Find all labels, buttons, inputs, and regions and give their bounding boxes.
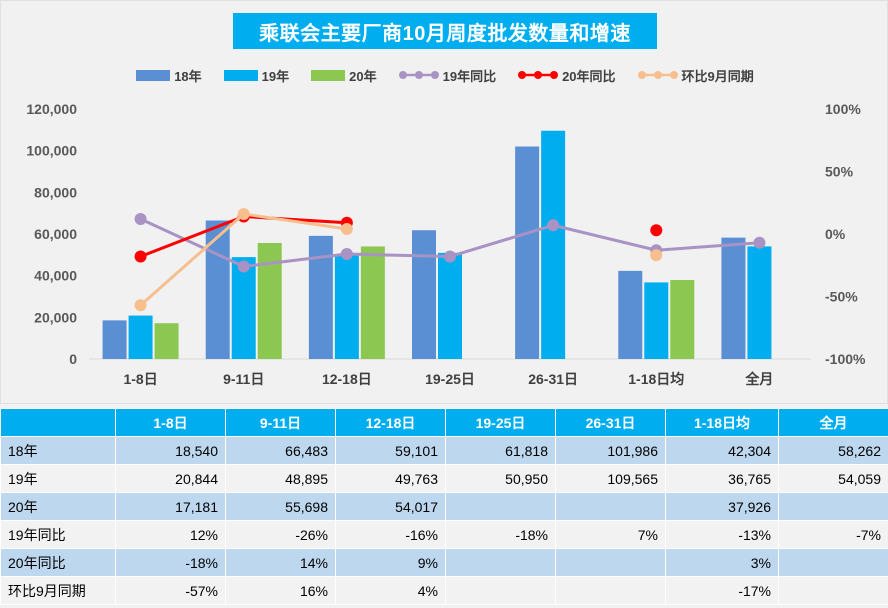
table-col-header-1-8日: 1-8日	[116, 409, 226, 437]
y-axis-right-tick: -50%	[825, 289, 858, 305]
table-cell-18年-19-25日: 61,818	[446, 437, 556, 465]
x-axis-category-全月: 全月	[744, 371, 773, 387]
table-cell-环比9月同期-12-18日: 4%	[336, 577, 446, 605]
legend-20nian[interactable]: 20年	[311, 66, 376, 85]
bar-18年-1-18日均	[618, 271, 642, 359]
data-table: 1-8日9-11日12-18日19-25日26-31日1-18日均全月 18年1…	[0, 408, 888, 605]
marker-19年同比-9-11日	[238, 261, 250, 273]
legend-19nian-tongbi[interactable]: 19年同比	[399, 66, 496, 85]
table-col-header-26-31日: 26-31日	[556, 409, 666, 437]
table-body: 18年18,54066,48359,10161,818101,98642,304…	[1, 437, 888, 605]
x-axis-category-1-18日均: 1-18日均	[628, 371, 684, 387]
table-cell-20年同比-1-8日: -18%	[116, 549, 226, 577]
legend-20nian-tongbi[interactable]: 20年同比	[518, 66, 615, 85]
legend-19nian-label: 19年	[262, 66, 289, 85]
bar-20年-1-8日	[155, 323, 179, 359]
table-cell-环比9月同期-1-18日均: -17%	[666, 577, 779, 605]
x-axis-category-26-31日: 26-31日	[528, 371, 578, 387]
bar-19年-19-25日	[438, 253, 462, 359]
table-cell-环比9月同期-19-25日	[446, 577, 556, 605]
table-cell-20年-19-25日	[446, 493, 556, 521]
y-axis-left-tick: 120,000	[26, 101, 77, 117]
legend-18nian-swatch	[136, 70, 170, 81]
table-cell-20年同比-9-11日: 14%	[226, 549, 336, 577]
table-cell-18年-全月: 58,262	[779, 437, 888, 465]
legend-18nian[interactable]: 18年	[136, 66, 201, 85]
bar-18年-19-25日	[412, 230, 436, 359]
y-axis-right-tick: 50%	[825, 164, 854, 180]
marker-19年同比-12-18日	[341, 248, 353, 260]
table-cell-19年-9-11日: 48,895	[226, 465, 336, 493]
table-cell-20年-9-11日: 55,698	[226, 493, 336, 521]
marker-20年同比-1-18日均	[650, 224, 662, 236]
legend-20nian-tongbi-line	[518, 69, 558, 81]
table-cell-环比9月同期-26-31日	[556, 577, 666, 605]
table-cell-环比9月同期-1-8日: -57%	[116, 577, 226, 605]
line-segment-19年同比	[553, 225, 656, 250]
table-row-label-20年: 20年	[1, 493, 116, 521]
table-cell-20年同比-19-25日	[446, 549, 556, 577]
y-axis-left-tick: 40,000	[34, 268, 77, 284]
bar-18年-12-18日	[309, 236, 333, 359]
legend-huanbi-9yue[interactable]: 环比9月同期	[638, 66, 754, 85]
table-cell-18年-26-31日: 101,986	[556, 437, 666, 465]
bar-20年-9-11日	[258, 243, 282, 359]
table-cell-18年-9-11日: 66,483	[226, 437, 336, 465]
chart-legend: 18年19年20年19年同比20年同比环比9月同期	[1, 63, 888, 87]
marker-19年同比-19-25日	[444, 251, 456, 263]
legend-20nian-swatch	[311, 70, 345, 81]
y-axis-left-tick: 100,000	[26, 143, 77, 159]
marker-19年同比-1-8日	[135, 213, 147, 225]
table-col-header-1-18日均: 1-18日均	[666, 409, 779, 437]
table-col-header-全月: 全月	[779, 409, 888, 437]
table-row: 18年18,54066,48359,10161,818101,98642,304…	[1, 437, 888, 465]
table-row-label-19年: 19年	[1, 465, 116, 493]
table-cell-18年-1-8日: 18,540	[116, 437, 226, 465]
table-cell-19年-1-8日: 20,844	[116, 465, 226, 493]
bar-19年-1-8日	[129, 316, 153, 359]
y-axis-right-tick: 0%	[825, 226, 846, 242]
marker-19年同比-全月	[753, 237, 765, 249]
legend-18nian-label: 18年	[174, 66, 201, 85]
table-cell-19年-26-31日: 109,565	[556, 465, 666, 493]
y-axis-right-tick: -100%	[825, 351, 866, 367]
table-cell-19年同比-1-18日均: -13%	[666, 521, 779, 549]
table-cell-环比9月同期-9-11日: 16%	[226, 577, 336, 605]
table-cell-20年-1-8日: 17,181	[116, 493, 226, 521]
table-corner-cell	[1, 409, 116, 437]
legend-20nian-tongbi-label: 20年同比	[562, 66, 615, 85]
table-cell-19年同比-9-11日: -26%	[226, 521, 336, 549]
table-cell-18年-12-18日: 59,101	[336, 437, 446, 465]
table-cell-19年-12-18日: 49,763	[336, 465, 446, 493]
table-cell-18年-1-18日均: 42,304	[666, 437, 779, 465]
y-axis-left-tick: 0	[69, 351, 77, 367]
marker-20年同比-1-8日	[135, 251, 147, 263]
marker-环比9月同期-1-8日	[135, 299, 147, 311]
table-header-row: 1-8日9-11日12-18日19-25日26-31日1-18日均全月	[1, 409, 888, 437]
table-cell-19年同比-全月: -7%	[779, 521, 888, 549]
chart-title-banner: 乘联会主要厂商10月周度批发数量和增速	[233, 13, 657, 49]
y-axis-left-tick: 20,000	[34, 309, 77, 325]
marker-环比9月同期-12-18日	[341, 223, 353, 235]
page-title: 乘联会主要厂商10月周度批发数量和增速	[259, 17, 631, 46]
x-axis-category-9-11日: 9-11日	[223, 371, 264, 387]
table-row: 环比9月同期-57%16%4%-17%	[1, 577, 888, 605]
legend-19nian[interactable]: 19年	[224, 66, 289, 85]
y-axis-left-tick: 60,000	[34, 226, 77, 242]
legend-20nian-label: 20年	[349, 66, 376, 85]
x-axis-category-1-8日: 1-8日	[123, 371, 157, 387]
table-col-header-12-18日: 12-18日	[336, 409, 446, 437]
table-row: 20年17,18155,69854,01737,926	[1, 493, 888, 521]
y-axis-right-tick: 100%	[825, 101, 861, 117]
table-cell-环比9月同期-全月	[779, 577, 888, 605]
table-cell-20年同比-全月	[779, 549, 888, 577]
bar-18年-9-11日	[206, 220, 230, 359]
table-cell-20年-全月	[779, 493, 888, 521]
bar-19年-全月	[747, 246, 771, 359]
table-row: 19年20,84448,89549,76350,950109,56536,765…	[1, 465, 888, 493]
table-row: 20年同比-18%14%9%3%	[1, 549, 888, 577]
x-axis-category-12-18日: 12-18日	[322, 371, 372, 387]
table-cell-19年-19-25日: 50,950	[446, 465, 556, 493]
table-row-label-19年同比: 19年同比	[1, 521, 116, 549]
legend-19nian-tongbi-line	[399, 69, 439, 81]
table-cell-19年-1-18日均: 36,765	[666, 465, 779, 493]
x-axis-category-19-25日: 19-25日	[425, 371, 475, 387]
chart-plot-area: 020,00040,00060,00080,000100,000120,000-…	[1, 89, 888, 389]
table-cell-19年同比-26-31日: 7%	[556, 521, 666, 549]
table-col-header-9-11日: 9-11日	[226, 409, 336, 437]
legend-19nian-tongbi-label: 19年同比	[443, 66, 496, 85]
table-cell-19年同比-12-18日: -16%	[336, 521, 446, 549]
table-row-label-18年: 18年	[1, 437, 116, 465]
table-cell-20年同比-1-18日均: 3%	[666, 549, 779, 577]
chart-panel: 乘联会主要厂商10月周度批发数量和增速 18年19年20年19年同比20年同比环…	[0, 0, 888, 404]
table-cell-20年同比-12-18日: 9%	[336, 549, 446, 577]
table-cell-19年同比-19-25日: -18%	[446, 521, 556, 549]
table-row-label-20年同比: 20年同比	[1, 549, 116, 577]
table-cell-19年-全月: 54,059	[779, 465, 888, 493]
table-cell-20年同比-26-31日	[556, 549, 666, 577]
table-row-label-环比9月同期: 环比9月同期	[1, 577, 116, 605]
table-row: 19年同比12%-26%-16%-18%7%-13%-7%	[1, 521, 888, 549]
bar-19年-1-18日均	[644, 282, 668, 359]
table-col-header-19-25日: 19-25日	[446, 409, 556, 437]
table-cell-20年-1-18日均: 37,926	[666, 493, 779, 521]
bar-19年-26-31日	[541, 131, 565, 359]
y-axis-left-tick: 80,000	[34, 184, 77, 200]
bar-19年-12-18日	[335, 255, 359, 359]
bar-18年-全月	[721, 238, 745, 359]
bar-18年-1-8日	[103, 320, 127, 359]
marker-环比9月同期-1-18日均	[650, 249, 662, 261]
marker-19年同比-26-31日	[547, 219, 559, 231]
table-cell-20年-12-18日: 54,017	[336, 493, 446, 521]
legend-19nian-swatch	[224, 70, 258, 81]
bar-18年-26-31日	[515, 147, 539, 359]
bar-20年-12-18日	[361, 246, 385, 359]
table-cell-20年-26-31日	[556, 493, 666, 521]
marker-环比9月同期-9-11日	[238, 208, 250, 220]
table-cell-19年同比-1-8日: 12%	[116, 521, 226, 549]
legend-huanbi-9yue-line	[638, 69, 678, 81]
bar-20年-1-18日均	[670, 280, 694, 359]
legend-huanbi-9yue-label: 环比9月同期	[682, 66, 754, 85]
